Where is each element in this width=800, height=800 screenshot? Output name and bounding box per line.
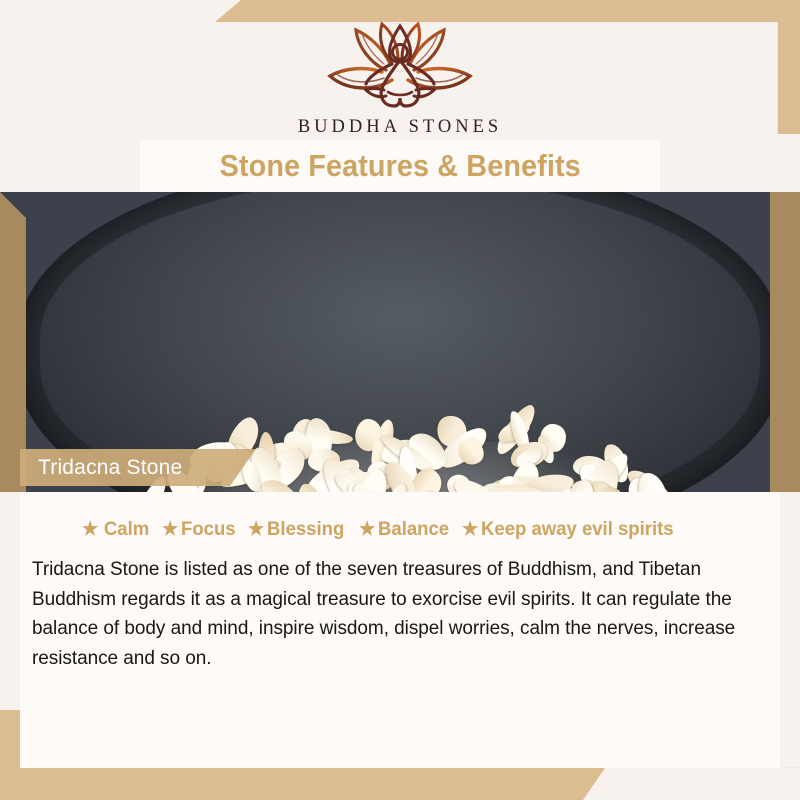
page-title: Stone Features & Benefits — [219, 148, 580, 184]
feature-item-balance: ★Balance — [359, 518, 449, 541]
content-bottom-edge — [20, 742, 780, 768]
headline-ribbon: Stone Features & Benefits — [140, 140, 660, 192]
feature-item-calm: ★Calm — [82, 518, 149, 541]
brand-header: BUDDHA STONES — [0, 18, 800, 138]
feature-label: Balance — [378, 518, 449, 541]
product-photo — [0, 192, 800, 492]
star-icon: ★ — [462, 520, 478, 539]
feature-label: Keep away evil spirits — [481, 518, 674, 541]
brand-name: BUDDHA STONES — [298, 117, 502, 138]
star-icon: ★ — [162, 520, 178, 539]
stone-name-ribbon: Tridacna Stone — [20, 449, 256, 486]
feature-label: Focus — [181, 518, 236, 541]
feature-list: ★Calm★Focus★Blessing★Balance★Keep away e… — [82, 518, 780, 541]
stone-description: Tridacna Stone is listed as one of the s… — [32, 555, 755, 673]
star-icon: ★ — [82, 520, 98, 539]
feature-label: Blessing — [267, 518, 344, 541]
feature-item-keep-away-evil-spirits: ★Keep away evil spirits — [462, 518, 674, 541]
feature-item-focus: ★Focus — [162, 518, 236, 541]
lotus-meditation-icon — [322, 18, 478, 114]
promo-graphic: BUDDHA STONES Stone Features & Benefits … — [0, 0, 800, 800]
decor-band-bottom-left — [0, 768, 605, 800]
content-card: ★Calm★Focus★Blessing★Balance★Keep away e… — [20, 492, 780, 742]
stone-name-label: Tridacna Stone — [38, 456, 182, 480]
feature-item-blessing: ★Blessing — [248, 518, 344, 541]
photo-edge-left — [0, 192, 26, 492]
photo-edge-right — [770, 192, 800, 492]
star-icon: ★ — [359, 520, 375, 539]
star-icon: ★ — [248, 520, 264, 539]
feature-label: Calm — [104, 518, 149, 541]
